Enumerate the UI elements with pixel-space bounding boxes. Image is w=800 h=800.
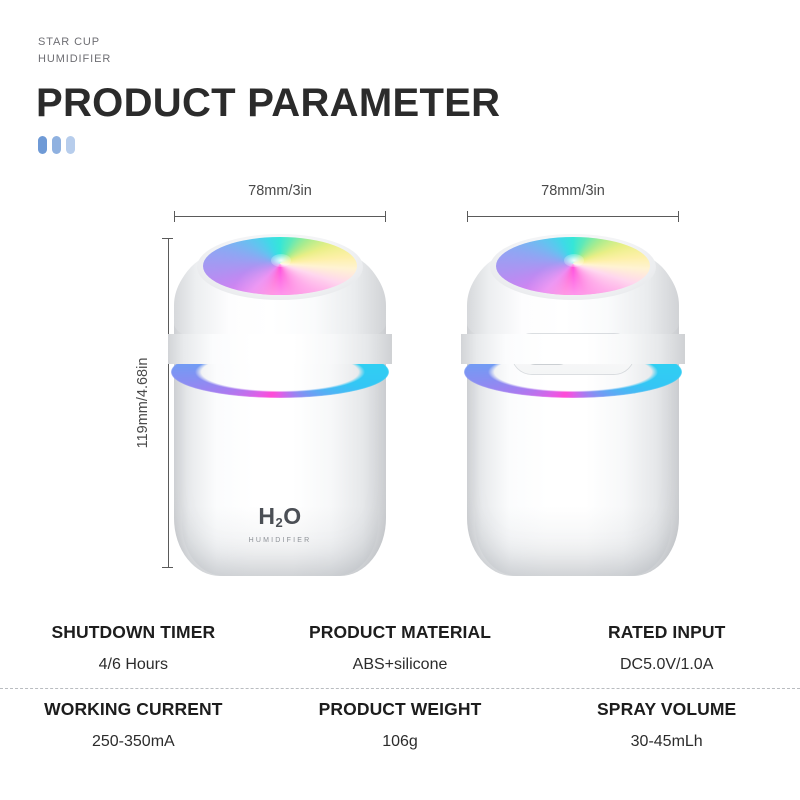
spec-value: 30-45mLh bbox=[537, 733, 796, 751]
spec-cell-spray-volume: SPRAY VOLUME 30-45mLh bbox=[533, 689, 800, 765]
brand-line-2: HUMIDIFIER bbox=[38, 51, 111, 68]
brand-eyebrow: STAR CUP HUMIDIFIER bbox=[38, 34, 111, 68]
h2o-h: H bbox=[258, 503, 275, 529]
height-dimension-label: 119mm/4.68in bbox=[135, 358, 151, 449]
dimension-line bbox=[467, 216, 679, 217]
spec-key: SPRAY VOLUME bbox=[537, 699, 796, 720]
dimension-cap-left bbox=[467, 211, 468, 222]
glow-ring-occluder bbox=[168, 334, 393, 364]
bowl-shading bbox=[203, 237, 358, 295]
rainbow-light-top bbox=[203, 237, 358, 295]
spec-key: RATED INPUT bbox=[537, 622, 796, 643]
h2o-logo: H2O HUMIDIFIER bbox=[174, 504, 386, 544]
product-image-front: H2O HUMIDIFIER bbox=[174, 226, 386, 576]
spec-cell-rated-input: RATED INPUT DC5.0V/1.0A bbox=[533, 612, 800, 688]
width-dimension-right-label: 78mm/3in bbox=[467, 183, 679, 199]
spec-key: WORKING CURRENT bbox=[4, 699, 263, 720]
h2o-logo-caption: HUMIDIFIER bbox=[174, 537, 386, 544]
product-image-back bbox=[467, 226, 679, 576]
spec-value: 4/6 Hours bbox=[4, 656, 263, 674]
spec-cell-product-weight: PRODUCT WEIGHT 106g bbox=[267, 689, 534, 765]
width-dimension-left: 78mm/3in bbox=[174, 183, 386, 223]
accent-dots bbox=[38, 136, 75, 154]
brand-line-1: STAR CUP bbox=[38, 34, 111, 51]
accent-dot-3 bbox=[66, 136, 75, 154]
spec-value: 250-350mA bbox=[4, 733, 263, 751]
rainbow-light-top bbox=[496, 237, 651, 295]
width-dimension-left-label: 78mm/3in bbox=[174, 183, 386, 199]
spec-key: PRODUCT WEIGHT bbox=[271, 699, 530, 720]
spec-value: ABS+silicone bbox=[271, 656, 530, 674]
spec-row: SHUTDOWN TIMER 4/6 Hours PRODUCT MATERIA… bbox=[0, 612, 800, 688]
product-parameter-page: STAR CUP HUMIDIFIER PRODUCT PARAMETER 78… bbox=[0, 0, 800, 800]
spec-cell-shutdown-timer: SHUTDOWN TIMER 4/6 Hours bbox=[0, 612, 267, 688]
spec-table: SHUTDOWN TIMER 4/6 Hours PRODUCT MATERIA… bbox=[0, 612, 800, 765]
spec-cell-product-material: PRODUCT MATERIAL ABS+silicone bbox=[267, 612, 534, 688]
spec-cell-working-current: WORKING CURRENT 250-350mA bbox=[0, 689, 267, 765]
spec-key: PRODUCT MATERIAL bbox=[271, 622, 530, 643]
spec-row: WORKING CURRENT 250-350mA PRODUCT WEIGHT… bbox=[0, 689, 800, 765]
accent-dot-2 bbox=[52, 136, 61, 154]
bowl-shading bbox=[496, 237, 651, 295]
height-dimension: 119mm/4.68in bbox=[131, 238, 173, 568]
accent-dot-1 bbox=[38, 136, 47, 154]
h2o-logo-text: H2O bbox=[174, 504, 386, 535]
spec-key: SHUTDOWN TIMER bbox=[4, 622, 263, 643]
dimension-cap-top bbox=[162, 238, 173, 239]
dimension-line bbox=[168, 238, 169, 568]
spec-value: DC5.0V/1.0A bbox=[537, 656, 796, 674]
dimension-cap-left bbox=[174, 211, 175, 222]
dimension-cap-bottom bbox=[162, 567, 173, 568]
glow-ring-occluder bbox=[461, 334, 686, 364]
h2o-o: O bbox=[283, 503, 301, 529]
dimension-cap-right bbox=[385, 211, 386, 222]
spec-value: 106g bbox=[271, 733, 530, 751]
page-title: PRODUCT PARAMETER bbox=[36, 80, 500, 126]
dimension-cap-right bbox=[678, 211, 679, 222]
width-dimension-right: 78mm/3in bbox=[467, 183, 679, 223]
dimension-line bbox=[174, 216, 386, 217]
